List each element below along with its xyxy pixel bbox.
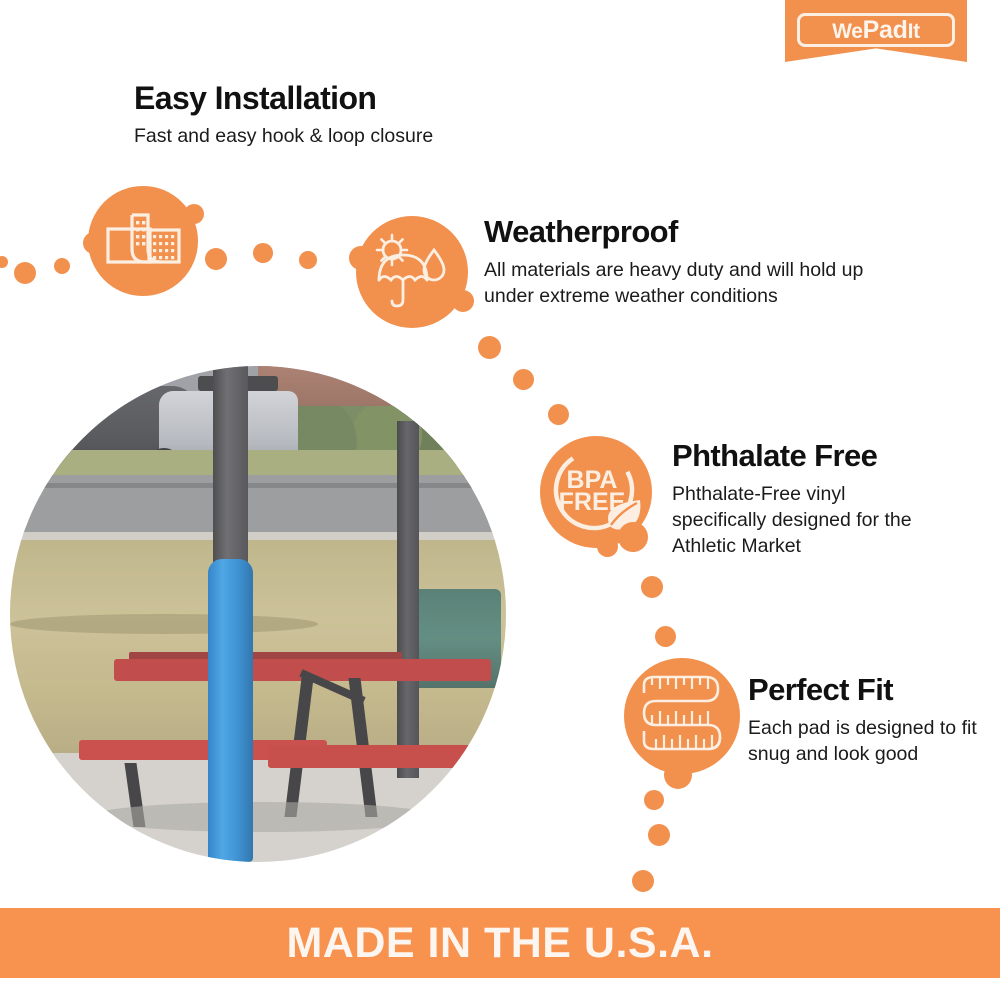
path-dot bbox=[478, 336, 501, 359]
feature-body-phthalate-free: Phthalate-Free vinyl specifically design… bbox=[672, 482, 942, 560]
path-dot bbox=[513, 369, 534, 390]
icon-blob bbox=[349, 246, 373, 270]
made-in-usa-text: MADE IN THE U.S.A. bbox=[286, 919, 713, 968]
path-dot bbox=[299, 251, 317, 269]
icon-blob bbox=[452, 290, 474, 312]
brand-logo-text: WePadIt bbox=[832, 18, 920, 43]
path-dot bbox=[632, 870, 654, 892]
icon-blob bbox=[83, 232, 105, 254]
feature-body-weatherproof: All materials are heavy duty and will ho… bbox=[484, 258, 914, 310]
feature-title-easy-installation: Easy Installation bbox=[134, 80, 376, 117]
icon-blob bbox=[184, 204, 204, 224]
path-dot bbox=[655, 626, 676, 647]
brand-logo-it: It bbox=[908, 20, 920, 43]
path-dot bbox=[54, 258, 70, 274]
brand-logo-pad: Pad bbox=[863, 16, 908, 44]
product-photo bbox=[10, 366, 506, 862]
feature-title-weatherproof: Weatherproof bbox=[484, 214, 678, 250]
path-dot bbox=[0, 256, 8, 268]
sun-umbrella-raindrop-icon bbox=[356, 216, 468, 328]
path-dot bbox=[205, 248, 227, 270]
photo-overlay bbox=[10, 366, 506, 862]
path-dot bbox=[648, 824, 670, 846]
path-dot bbox=[14, 262, 36, 284]
feature-title-phthalate-free: Phthalate Free bbox=[672, 438, 877, 474]
path-dot bbox=[641, 576, 663, 598]
feature-body-easy-installation: Fast and easy hook & loop closure bbox=[134, 124, 554, 150]
hook-and-loop-closure-icon bbox=[88, 186, 198, 296]
bpa-free-leaf-icon: BPA FREE bbox=[540, 436, 652, 548]
path-dot bbox=[548, 404, 569, 425]
icon-blob bbox=[664, 761, 692, 789]
product-feature-infographic: WePadIt bbox=[0, 0, 1000, 987]
made-in-usa-banner: MADE IN THE U.S.A. bbox=[0, 908, 1000, 978]
path-dot bbox=[253, 243, 273, 263]
measuring-tape-icon bbox=[624, 658, 740, 774]
feature-body-perfect-fit: Each pad is designed to fit snug and loo… bbox=[748, 716, 978, 768]
brand-logo-we: We bbox=[832, 20, 863, 43]
path-dot bbox=[644, 790, 664, 810]
icon-blob bbox=[618, 522, 648, 552]
brand-logo-frame: WePadIt bbox=[797, 13, 955, 47]
feature-title-perfect-fit: Perfect Fit bbox=[748, 672, 893, 708]
